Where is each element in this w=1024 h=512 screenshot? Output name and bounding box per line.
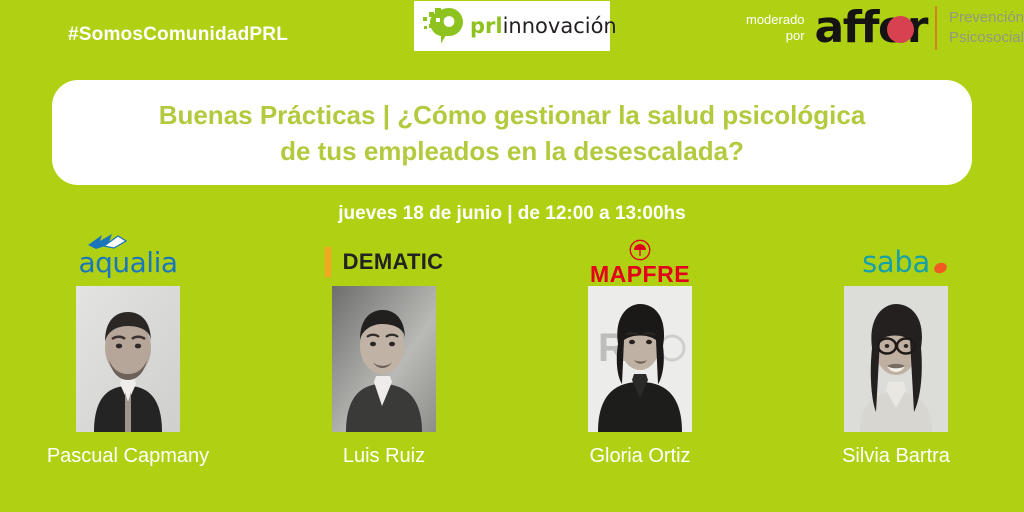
company-logo-slot: saba [862, 238, 930, 286]
affor-divider [935, 6, 937, 50]
title-line-1: Buenas Prácticas | ¿Cómo gestionar la sa… [159, 97, 866, 133]
affor-tagline: Prevención Psicosocial [949, 8, 1024, 48]
speaker-card: saba Silvia Bartra [768, 238, 1024, 498]
mapfre-logo: MAPFRE [590, 239, 690, 286]
schedule-text: jueves 18 de junio | de 12:00 a 13:00hs [0, 203, 1024, 225]
affor-tagline-line2: Psicosocial [949, 28, 1024, 48]
speaker-card: MAPFRE R Gloria Ortiz [512, 238, 768, 498]
prlinnovacion-logo[interactable]: prlinnovación [414, 1, 610, 51]
saba-dot-icon [933, 261, 949, 275]
company-logo-slot: aqualia [78, 238, 177, 286]
company-logo-slot: DEMATIC [325, 238, 444, 286]
saba-logo: saba [862, 245, 930, 279]
saba-wordmark: saba [862, 245, 930, 279]
speaker-name: Silvia Bartra [842, 445, 950, 468]
speaker-name: Gloria Ortiz [589, 445, 690, 468]
mapfre-wordmark: MAPFRE [590, 261, 690, 287]
speaker-name: Pascual Capmany [47, 445, 209, 468]
title-line-2: de tus empleados en la desescalada? [280, 133, 744, 169]
speaker-photo [844, 286, 948, 432]
speakers-row: aqualia [0, 238, 1024, 498]
aqualia-arrow-icon [86, 233, 128, 250]
moderator-block: moderado por affor Prevención Psicosocia… [746, 2, 1024, 54]
speaker-name: Luis Ruiz [343, 445, 425, 468]
dematic-bar-icon [325, 247, 331, 277]
dematic-wordmark: DEMATIC [343, 249, 444, 275]
campaign-hashtag: #SomosComunidadPRL [68, 24, 288, 46]
prlinnovacion-wordmark: prlinnovación [470, 16, 617, 37]
header-bar: #SomosComunidadPRL prlinnovación moderad… [0, 0, 1024, 58]
aqualia-wordmark: aqualia [78, 246, 177, 279]
prl-pin-icon [423, 5, 467, 47]
affor-logo[interactable]: affor [815, 4, 927, 52]
speaker-photo: R [588, 286, 692, 432]
speaker-photo [332, 286, 436, 432]
affor-dot-icon [887, 16, 914, 43]
moderator-label: moderado por [746, 12, 805, 44]
moderator-label-line1: moderado [746, 12, 805, 28]
prl-word-primary: prl [470, 14, 503, 38]
speaker-card: aqualia [0, 238, 256, 498]
aqualia-logo: aqualia [78, 246, 177, 279]
moderator-label-line2: por [746, 28, 805, 44]
speaker-card: DEMATIC Luis Ruiz [256, 238, 512, 498]
company-logo-slot: MAPFRE [590, 238, 690, 286]
prl-word-secondary: innovación [503, 14, 617, 38]
dematic-logo: DEMATIC [325, 247, 444, 277]
speaker-photo [76, 286, 180, 432]
affor-tagline-line1: Prevención [949, 8, 1024, 28]
mapfre-emblem-icon [629, 239, 651, 261]
title-card: Buenas Prácticas | ¿Cómo gestionar la sa… [52, 80, 972, 185]
